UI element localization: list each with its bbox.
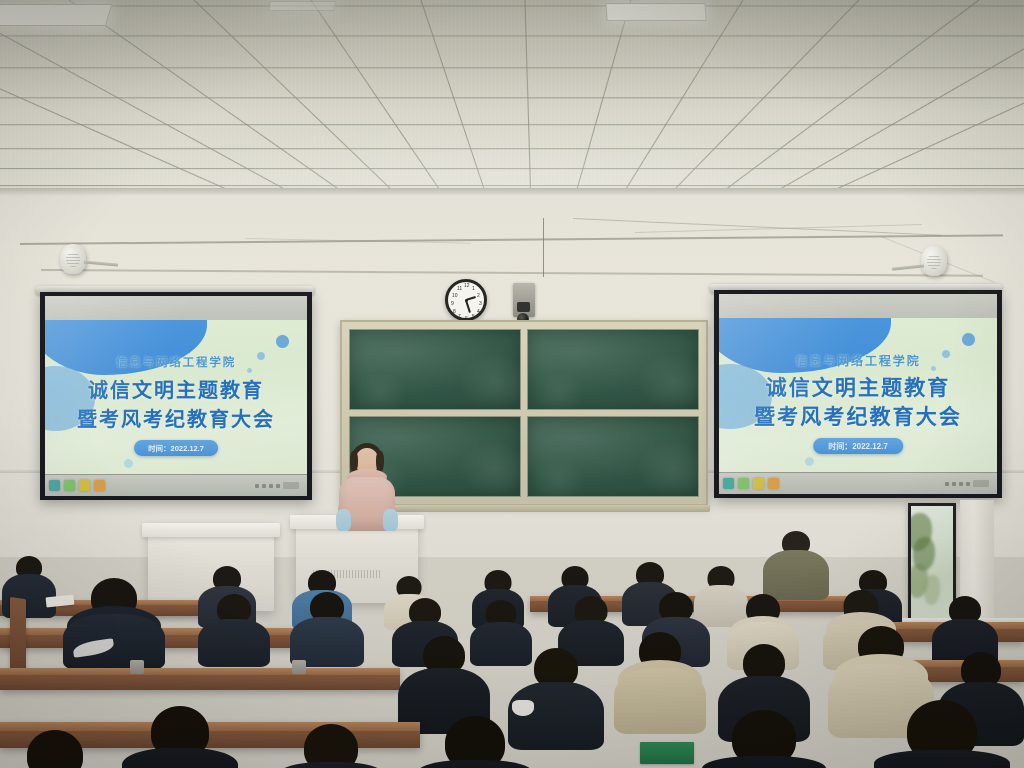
student xyxy=(120,706,240,768)
student-jacket xyxy=(63,614,165,670)
student-jacket xyxy=(702,756,826,768)
slide-date-badge: 时间：2022.12.7 xyxy=(134,440,218,456)
browser-icon[interactable] xyxy=(49,480,60,491)
student-jacket xyxy=(614,668,706,734)
blackboard-panel xyxy=(527,416,699,497)
lecture-hall-photo: 12 1 2 3 4 5 6 7 8 9 10 11 xyxy=(0,0,1024,768)
student-jacket xyxy=(763,550,829,600)
desk-support xyxy=(292,660,306,674)
right-screen-surface: 信息与网络工程学院 诚信文明主题教育 暨考风考纪教育大会 时间：2022.12.… xyxy=(719,294,997,494)
student xyxy=(196,594,272,664)
clock-numeral: 2 xyxy=(477,293,480,299)
taskbar-clock[interactable] xyxy=(283,482,299,489)
clock-numeral: 1 xyxy=(472,286,475,292)
lectern-top-surface xyxy=(142,523,281,537)
document-icon[interactable] xyxy=(94,480,105,491)
slide-dot xyxy=(124,459,133,468)
student xyxy=(760,531,832,599)
slide-dot xyxy=(276,335,289,348)
clock-center-pin xyxy=(465,299,468,302)
student xyxy=(612,632,708,732)
media-icon[interactable] xyxy=(753,478,764,489)
media-icon[interactable] xyxy=(79,480,90,491)
presenter xyxy=(332,443,402,531)
wall-cable xyxy=(543,218,544,277)
wall-cable xyxy=(20,235,1003,245)
slide-left: 信息与网络工程学院 诚信文明主题教育 暨考风考纪教育大会 时间：2022.12.… xyxy=(45,320,307,474)
tray-dot xyxy=(966,482,970,486)
student-jacket xyxy=(418,760,532,768)
slide-dot xyxy=(805,457,814,466)
clock-numeral: 9 xyxy=(451,301,454,307)
blackboard-panel xyxy=(349,329,521,410)
slide-title-line2: 暨考风考纪教育大会 xyxy=(719,401,997,431)
slide-organization: 信息与网络工程学院 xyxy=(45,354,307,370)
slide-right: 信息与网络工程学院 诚信文明主题教育 暨考风考纪教育大会 时间：2022.12.… xyxy=(719,318,997,472)
tray-dot xyxy=(276,484,280,488)
slide-dot xyxy=(962,333,975,346)
wall-cable xyxy=(41,269,983,276)
wall-clock: 12 1 2 3 4 5 6 7 8 9 10 11 xyxy=(445,279,487,321)
tray-dot xyxy=(269,484,273,488)
clock-numeral: 12 xyxy=(464,283,470,289)
wall-top-shadow xyxy=(0,188,1024,196)
tray-dot xyxy=(255,484,259,488)
student xyxy=(700,710,828,768)
slide-date-badge: 时间：2022.12.7 xyxy=(813,438,903,454)
wall-crack xyxy=(573,218,941,236)
presenter-sleeve-right xyxy=(383,509,398,531)
screen-blank-top xyxy=(719,294,997,318)
slide-title-line1: 诚信文明主题教育 xyxy=(45,374,307,403)
right-screen-taskbar[interactable] xyxy=(719,472,997,494)
student xyxy=(416,716,534,768)
left-screen-taskbar[interactable] xyxy=(45,474,307,496)
desk-support xyxy=(130,660,144,674)
taskbar-clock[interactable] xyxy=(973,480,989,487)
chair-back xyxy=(10,597,26,677)
left-projection-screen: 信息与网络工程学院 诚信文明主题教育 暨考风考纪教育大会 时间：2022.12.… xyxy=(40,292,312,500)
presenter-sleeve-left xyxy=(336,509,351,531)
tray-dot xyxy=(262,484,266,488)
student-jacket xyxy=(198,619,270,667)
left-screen-surface: 信息与网络工程学院 诚信文明主题教育 暨考风考纪教育大会 时间：2022.12.… xyxy=(45,296,307,496)
student xyxy=(60,578,168,668)
blackboard-panel xyxy=(527,329,699,410)
student-jacket xyxy=(874,750,1010,768)
student xyxy=(0,730,110,768)
clock-numeral: 3 xyxy=(479,301,482,307)
student-jacket xyxy=(280,762,382,768)
student-head xyxy=(27,730,83,768)
clock-numeral: 10 xyxy=(452,293,458,299)
slide-title-line2: 暨考风考纪教育大会 xyxy=(45,403,307,432)
system-tray[interactable] xyxy=(945,480,993,487)
ceiling-shading xyxy=(0,0,1024,204)
clock-numeral: 11 xyxy=(457,286,462,292)
tray-dot xyxy=(945,482,949,486)
student xyxy=(872,700,1012,768)
tray-dot xyxy=(959,482,963,486)
desk-row xyxy=(0,668,400,690)
folder-icon[interactable] xyxy=(64,480,75,491)
browser-icon[interactable] xyxy=(723,478,734,489)
student xyxy=(288,592,366,664)
right-projection-screen: 信息与网络工程学院 诚信文明主题教育 暨考风考纪教育大会 时间：2022.12.… xyxy=(714,290,1002,498)
face-mask xyxy=(512,700,534,716)
clock-numeral: 8 xyxy=(453,309,456,315)
wall-speaker-left xyxy=(60,244,86,274)
document-icon[interactable] xyxy=(768,478,779,489)
student xyxy=(278,724,384,768)
desk-surface xyxy=(0,668,400,675)
clock-numeral: 4 xyxy=(477,309,480,315)
system-tray[interactable] xyxy=(255,482,303,489)
security-camera-body xyxy=(517,302,530,312)
wall-speaker-right xyxy=(921,246,947,276)
student-jacket xyxy=(122,748,238,768)
tray-dot xyxy=(952,482,956,486)
notebook xyxy=(640,742,694,764)
slide-title-line1: 诚信文明主题教育 xyxy=(719,372,997,402)
folder-icon[interactable] xyxy=(738,478,749,489)
screen-blank-top xyxy=(45,296,307,320)
suspended-ceiling xyxy=(0,0,1024,204)
slide-organization: 信息与网络工程学院 xyxy=(719,352,997,369)
